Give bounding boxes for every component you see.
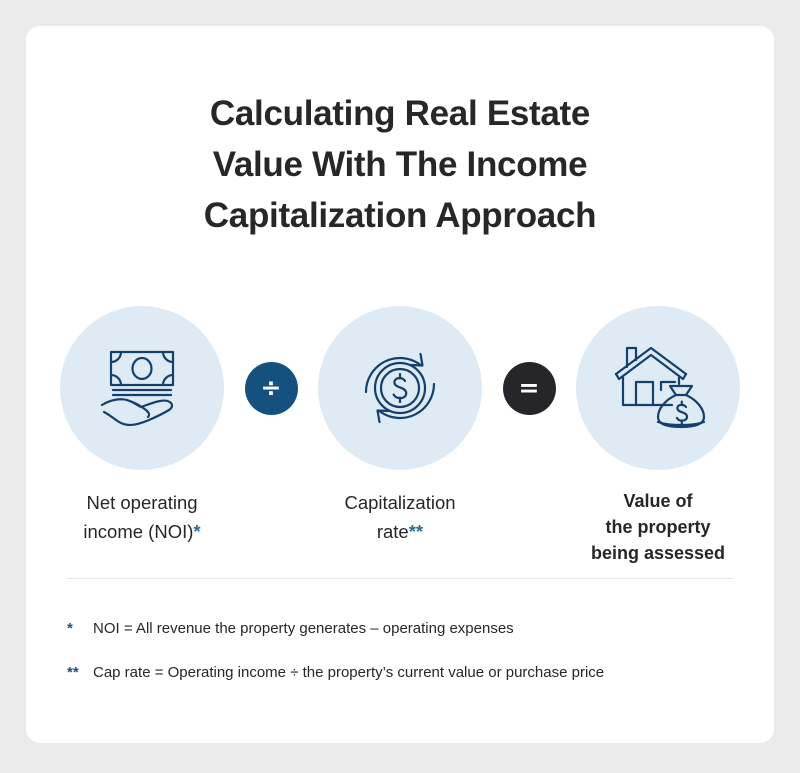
equals-operator: = <box>503 362 556 415</box>
divide-operator-glyph: ÷ <box>261 375 282 400</box>
page-title: Calculating Real Estate Value With The I… <box>26 88 774 241</box>
footnote-2-marker: ** <box>67 662 93 684</box>
equals-operator-glyph: = <box>519 375 540 400</box>
term-1-label-line-2-text: income (NOI) <box>83 521 193 542</box>
term-3-icon-circle <box>576 306 740 470</box>
term-2-icon-circle <box>318 306 482 470</box>
term-3-label-line-2: the property <box>576 514 740 540</box>
term-3-label-line-3: being assessed <box>576 540 740 566</box>
term-2-label: Capitalization rate** <box>318 488 482 546</box>
term-2-label-line-2-text: rate <box>377 521 409 542</box>
footnote-2-text: Cap rate = Operating income ÷ the proper… <box>93 662 747 684</box>
formula-row: ÷ <box>60 304 740 472</box>
term-2-footnote-marker: ** <box>409 521 423 542</box>
title-line-1: Calculating Real Estate <box>26 88 774 139</box>
title-line-2: Value With The Income <box>26 139 774 190</box>
footnote-row: * NOI = All revenue the property generat… <box>67 618 747 640</box>
term-1-label-line-2: income (NOI)* <box>60 517 224 546</box>
term-1-label: Net operating income (NOI)* <box>60 488 224 546</box>
hand-holding-money-icon <box>94 340 190 436</box>
term-1-label-line-1: Net operating <box>60 488 224 517</box>
footnote-1-marker: * <box>67 618 93 640</box>
footnotes: * NOI = All revenue the property generat… <box>67 618 747 706</box>
term-3-label-line-1: Value of <box>576 488 740 514</box>
formula-labels-row: Net operating income (NOI)* Capitalizati… <box>60 488 740 584</box>
title-line-3: Capitalization Approach <box>26 190 774 241</box>
term-3-label: Value of the property being assessed <box>576 488 740 566</box>
infographic-card: Calculating Real Estate Value With The I… <box>26 26 774 743</box>
footnote-1-text: NOI = All revenue the property generates… <box>93 618 747 640</box>
term-1-icon-circle <box>60 306 224 470</box>
footnote-divider <box>67 578 733 579</box>
term-2-label-line-1: Capitalization <box>318 488 482 517</box>
term-2-label-line-2: rate** <box>318 517 482 546</box>
divide-operator: ÷ <box>245 362 298 415</box>
dollar-coin-rotating-arrows-icon <box>352 340 448 436</box>
house-with-money-bag-icon <box>608 338 708 438</box>
footnote-row: ** Cap rate = Operating income ÷ the pro… <box>67 662 747 684</box>
term-1-footnote-marker: * <box>193 521 200 542</box>
